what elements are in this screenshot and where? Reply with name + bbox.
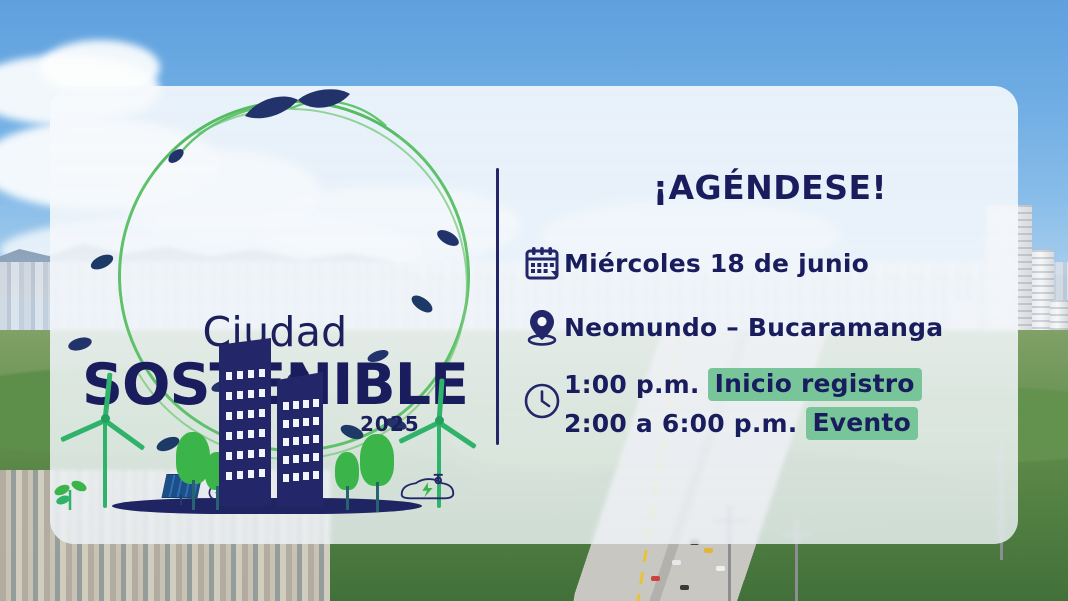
plant-icon: [54, 472, 94, 512]
banner-root: Ciudad SOSTENIBLE 2025: [0, 0, 1068, 601]
event-date-text: Miércoles 18 de junio: [564, 249, 869, 278]
car: [680, 585, 689, 590]
schedule-label-2: Evento: [806, 407, 918, 440]
schedule-line: 2:00 a 6:00 p.m. Evento: [564, 407, 922, 440]
schedule-time-1: 1:00 p.m.: [564, 370, 700, 399]
schedule-label-1: Inicio registro: [708, 368, 922, 401]
location-pin-icon: [520, 308, 564, 346]
logo-line-ciudad: Ciudad: [60, 308, 490, 356]
car: [672, 560, 681, 565]
car: [651, 576, 660, 581]
car: [716, 566, 725, 571]
clock-icon: [520, 368, 564, 420]
page-title: ¡AGÉNDESE!: [520, 168, 1020, 207]
solar-panel-leg: [180, 495, 182, 505]
electric-car-icon: [396, 472, 458, 502]
event-date-row: Miércoles 18 de junio: [520, 245, 869, 281]
schedule-time-2: 2:00 a 6:00 p.m.: [564, 409, 798, 438]
city-buildings-icon: [219, 338, 271, 506]
event-location-text: Neomundo – Bucaramanga: [564, 313, 943, 342]
event-location-row: Neomundo – Bucaramanga: [520, 308, 943, 346]
vertical-divider: [496, 168, 499, 445]
calendar-icon: [520, 245, 564, 281]
schedule-line: 1:00 p.m. Inicio registro: [564, 368, 922, 401]
car: [704, 548, 713, 553]
event-details: ¡AGÉNDESE!: [520, 120, 1040, 520]
city-building-secondary-icon: [277, 372, 323, 506]
event-schedule-row: 1:00 p.m. Inicio registro 2:00 a 6:00 p.…: [520, 368, 922, 440]
event-logo: Ciudad SOSTENIBLE 2025: [60, 86, 490, 544]
